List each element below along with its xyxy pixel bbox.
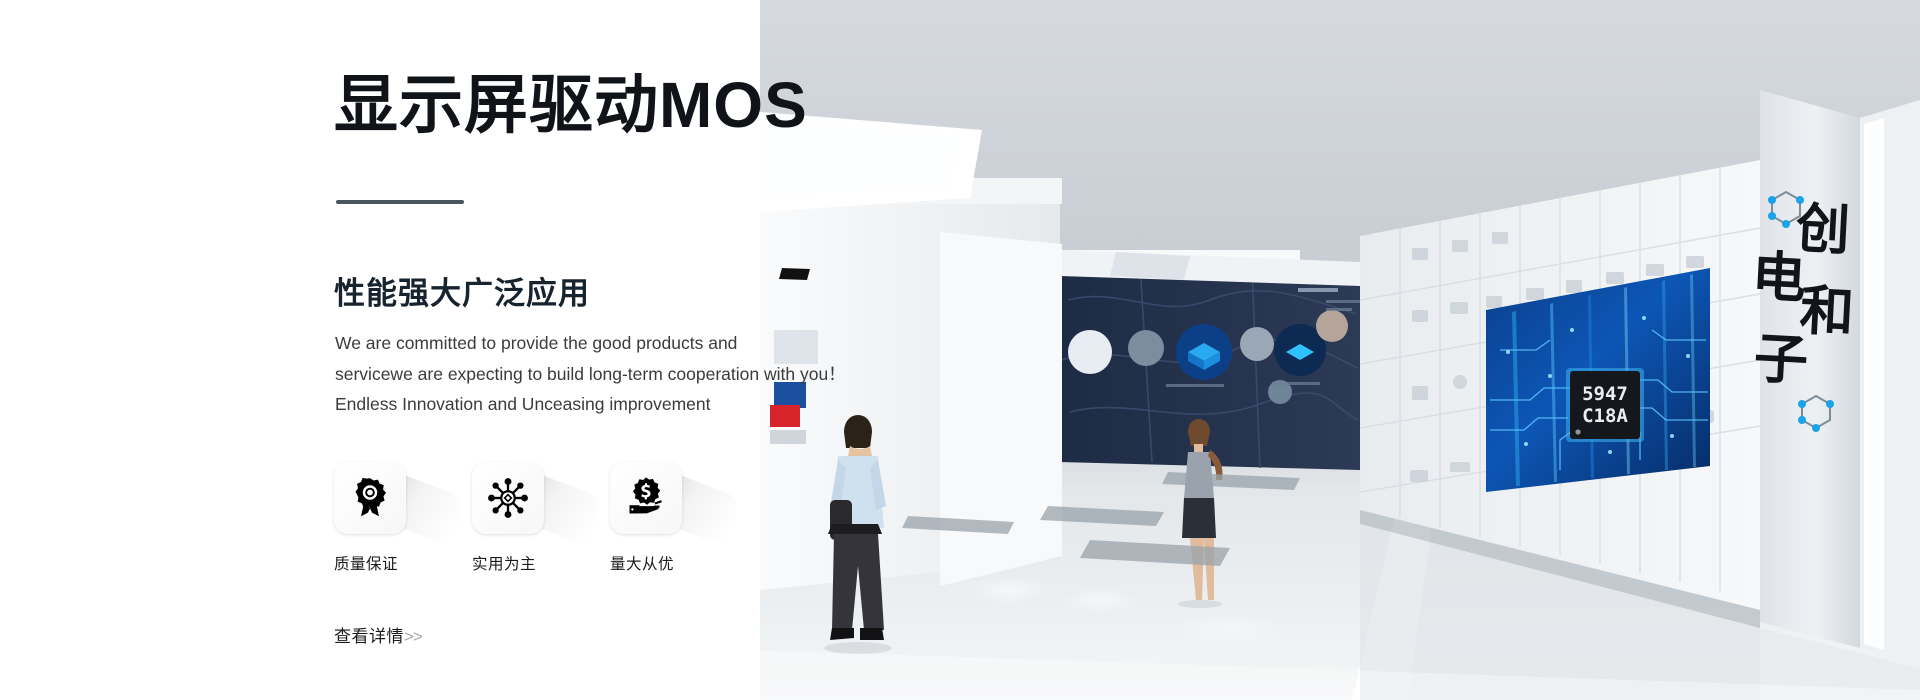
view-details-label: 查看详情 bbox=[334, 627, 404, 646]
chip-graphic: 5947 C18A bbox=[1566, 368, 1644, 442]
feature-tile bbox=[472, 462, 544, 534]
hand-money-icon bbox=[624, 476, 668, 520]
description-line-3: Endless Innovation and Unceasing improve… bbox=[335, 389, 875, 420]
page-title: 显示屏驱动MOS bbox=[334, 70, 808, 140]
svg-text:子: 子 bbox=[1752, 327, 1809, 393]
feature-label: 实用为主 bbox=[472, 552, 552, 574]
chip-label-line1: 5947 bbox=[1582, 383, 1628, 405]
feature-tile bbox=[610, 462, 682, 534]
feature-list: 质量保证 bbox=[334, 462, 690, 574]
feature-label: 量大从优 bbox=[610, 552, 690, 574]
description-line-2: servicewe are expecting to build long-te… bbox=[335, 359, 875, 390]
svg-text:电: 电 bbox=[1750, 245, 1807, 311]
feature-item-bulk-discount[interactable]: 量大从优 bbox=[610, 462, 690, 574]
subheading: 性能强大广泛应用 bbox=[334, 268, 590, 313]
title-divider bbox=[336, 200, 464, 204]
chip-label-line2: C18A bbox=[1582, 405, 1628, 427]
text-panel: 显示屏驱动MOS 性能强大广泛应用 We are committed to pr… bbox=[0, 0, 960, 700]
network-hub-icon bbox=[486, 476, 530, 520]
description-line-1: We are committed to provide the good pro… bbox=[335, 328, 875, 359]
feature-item-practical[interactable]: 实用为主 bbox=[472, 462, 552, 574]
feature-tile bbox=[334, 462, 406, 534]
description-paragraph: We are committed to provide the good pro… bbox=[335, 328, 875, 420]
chevron-right-icon: >> bbox=[404, 627, 422, 646]
view-details-link[interactable]: 查看详情>> bbox=[334, 622, 422, 647]
feature-item-quality[interactable]: 质量保证 bbox=[334, 462, 414, 574]
feature-label: 质量保证 bbox=[334, 552, 414, 574]
award-ribbon-icon bbox=[348, 476, 392, 520]
hero-banner: 显示屏驱动MOS 性能强大广泛应用 We are committed to pr… bbox=[0, 0, 1920, 700]
